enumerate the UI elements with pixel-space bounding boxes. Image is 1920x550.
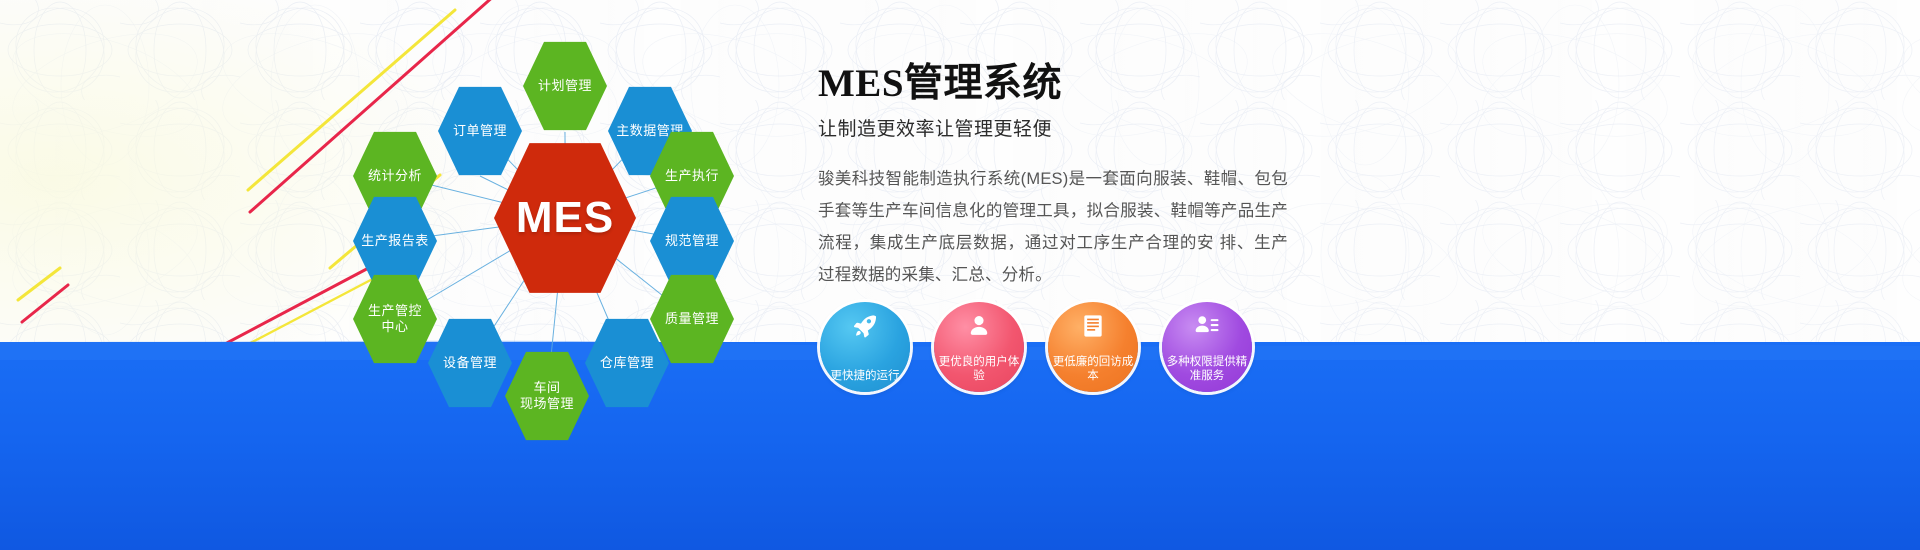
hex-node-label: 订单管理: [449, 123, 511, 139]
hex-node-label: 计划管理: [534, 78, 596, 94]
feature-badge-label: 多种权限提供精准服务: [1166, 355, 1248, 383]
hex-node-label: 仓库管理: [596, 355, 658, 371]
feature-badge-label: 更低廉的回访成本: [1052, 355, 1134, 383]
document-icon: [1080, 313, 1106, 339]
hex-node-label: 设备管理: [439, 355, 501, 371]
hex-node-label: 车间现场管理: [516, 380, 578, 412]
hex-node-label: 生产报告表: [357, 233, 433, 249]
feature-badge[interactable]: 更低廉的回访成本: [1048, 302, 1138, 392]
feature-badge-label: 更快捷的运行: [824, 369, 906, 383]
hex-node-label: 生产执行: [661, 168, 723, 184]
hex-node-label: 统计分析: [364, 168, 426, 184]
page-subtitle: 让制造更效率让管理更轻便: [818, 114, 1288, 141]
hex-node-label: 规范管理: [661, 233, 723, 249]
user-icon: [966, 313, 992, 339]
hex-node-label: 生产管控中心: [364, 303, 426, 335]
hex-node-label: 质量管理: [661, 311, 723, 327]
user-list-icon: [1194, 313, 1220, 339]
page-description: 骏美科技智能制造执行系统(MES)是一套面向服装、鞋帽、包包手套等生产车间信息化…: [818, 163, 1288, 291]
rocket-icon: [852, 313, 878, 339]
hex-core-label: MES: [512, 210, 618, 226]
feature-badge[interactable]: 更快捷的运行: [820, 302, 910, 392]
banner-stage: 计划管理订单管理统计分析主数据管理生产执行规范管理质量管理生产报告表生产管控中心…: [0, 0, 1920, 550]
mes-hex-diagram: 计划管理订单管理统计分析主数据管理生产执行规范管理质量管理生产报告表生产管控中心…: [330, 10, 800, 440]
page-title: MES管理系统: [818, 52, 1288, 108]
feature-badge[interactable]: 更优良的用户体验: [934, 302, 1024, 392]
feature-badge[interactable]: 多种权限提供精准服务: [1162, 302, 1252, 392]
banner-text-block: MES管理系统 让制造更效率让管理更轻便 骏美科技智能制造执行系统(MES)是一…: [818, 52, 1288, 291]
feature-badge-label: 更优良的用户体验: [938, 355, 1020, 383]
feature-badges: 更快捷的运行 更优良的用户体验: [820, 302, 1270, 397]
